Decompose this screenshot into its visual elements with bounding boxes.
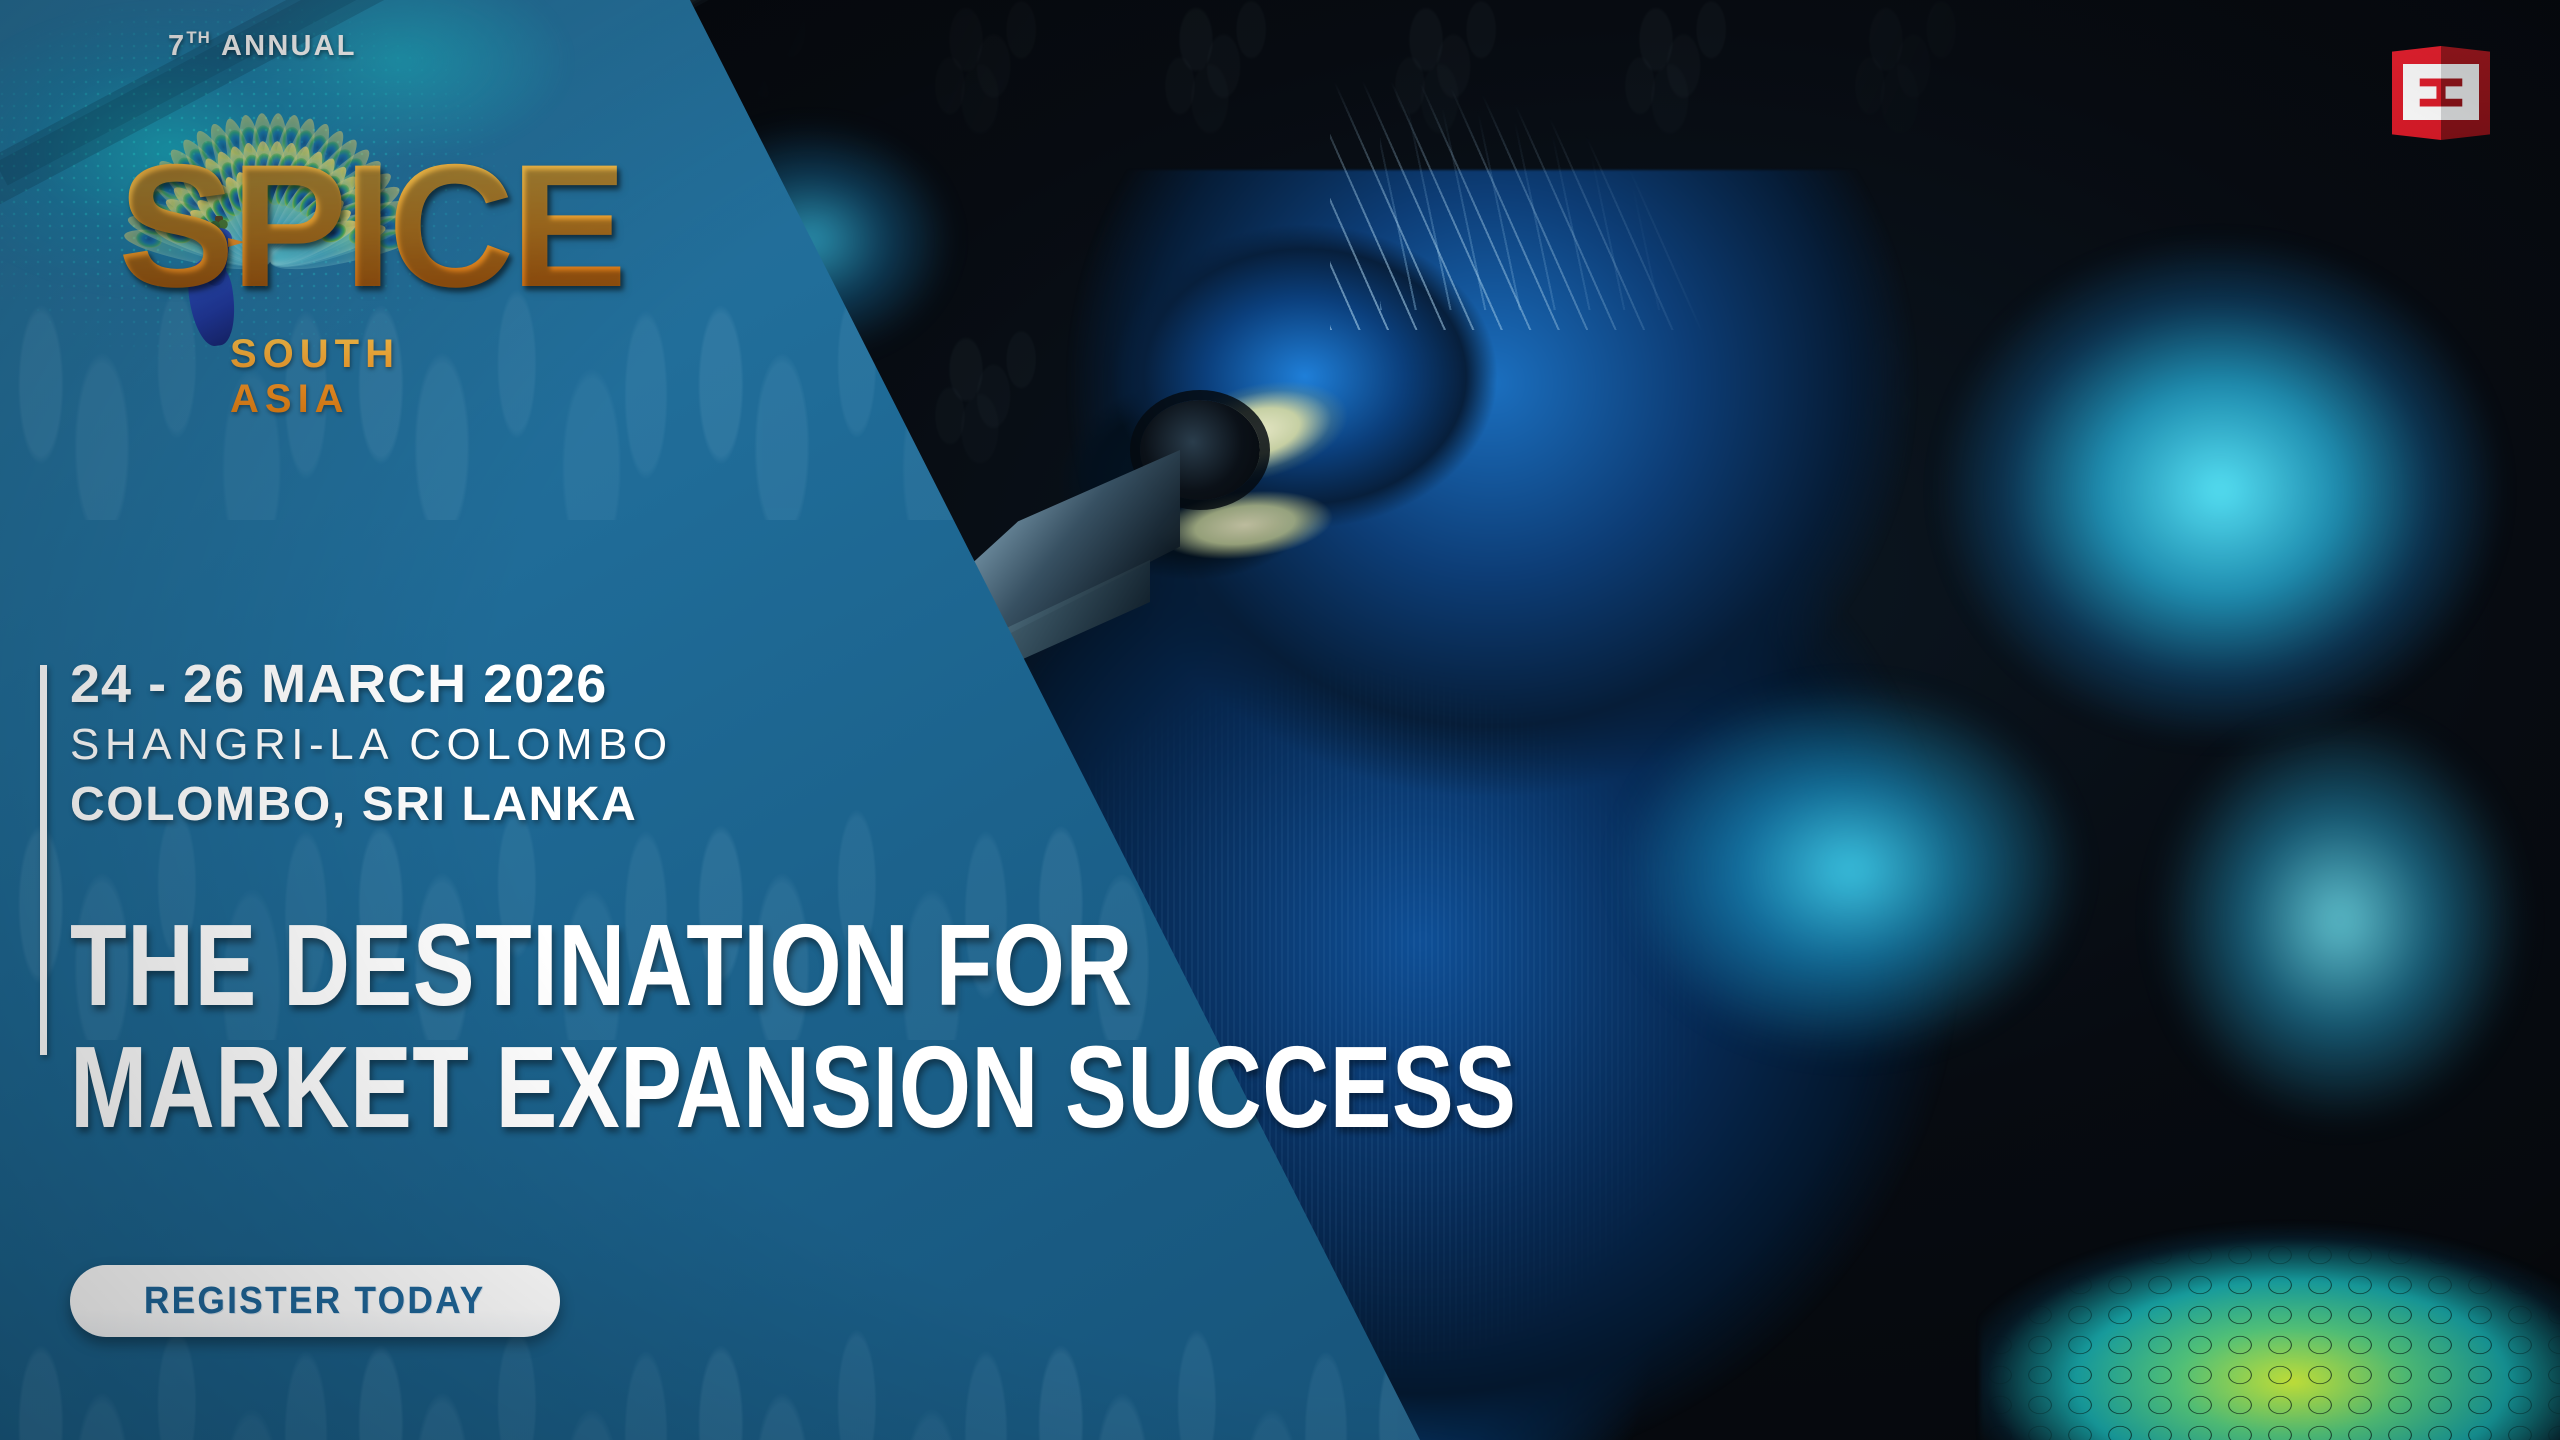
cube-logo[interactable]	[2392, 38, 2490, 140]
event-city: COLOMBO, SRI LANKA	[70, 777, 673, 832]
edition-word: ANNUAL	[221, 30, 357, 62]
brand-wordmark: SPICE	[118, 148, 623, 306]
register-today-label: REGISTER TODAY	[144, 1280, 486, 1323]
event-dates: 24 - 26 MARCH 2026	[70, 655, 673, 713]
green-scaled-feather-mesh	[1980, 1180, 2560, 1440]
cube-glyph-left-icon	[2403, 64, 2441, 120]
page-title: THE DESTINATION FOR MARKET EXPANSION SUC…	[70, 905, 1718, 1149]
accent-rule	[40, 665, 47, 1055]
event-info: 24 - 26 MARCH 2026 SHANGRI-LA COLOMBO CO…	[70, 655, 673, 832]
event-venue: SHANGRI-LA COLOMBO	[70, 719, 673, 771]
edition-ordinal: TH	[186, 28, 210, 47]
edition-kicker: 7TH ANNUAL	[168, 28, 357, 63]
spice-logo: SPICE SOUTH ASIA	[30, 70, 480, 360]
register-today-button[interactable]: REGISTER TODAY	[70, 1265, 560, 1337]
brand-region-label: SOUTH ASIA	[230, 332, 480, 422]
banner-root: 7TH ANNUAL SPICE SOUTH ASIA 24 - 26 MARC…	[0, 0, 2560, 1440]
cube-glyph-right-icon	[2441, 64, 2479, 120]
edition-number: 7	[168, 30, 186, 62]
